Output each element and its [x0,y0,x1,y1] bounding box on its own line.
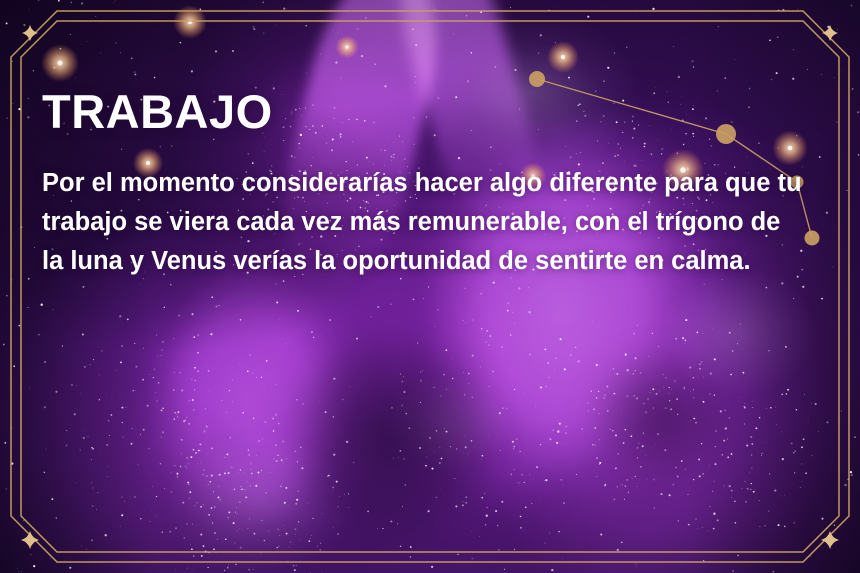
horoscope-body-text: Por el momento considerarías hacer algo … [42,135,802,281]
horoscope-card: TRABAJO Por el momento considerarías hac… [0,0,860,573]
card-content: TRABAJO Por el momento considerarías hac… [42,88,812,281]
page-title: TRABAJO [42,88,812,135]
